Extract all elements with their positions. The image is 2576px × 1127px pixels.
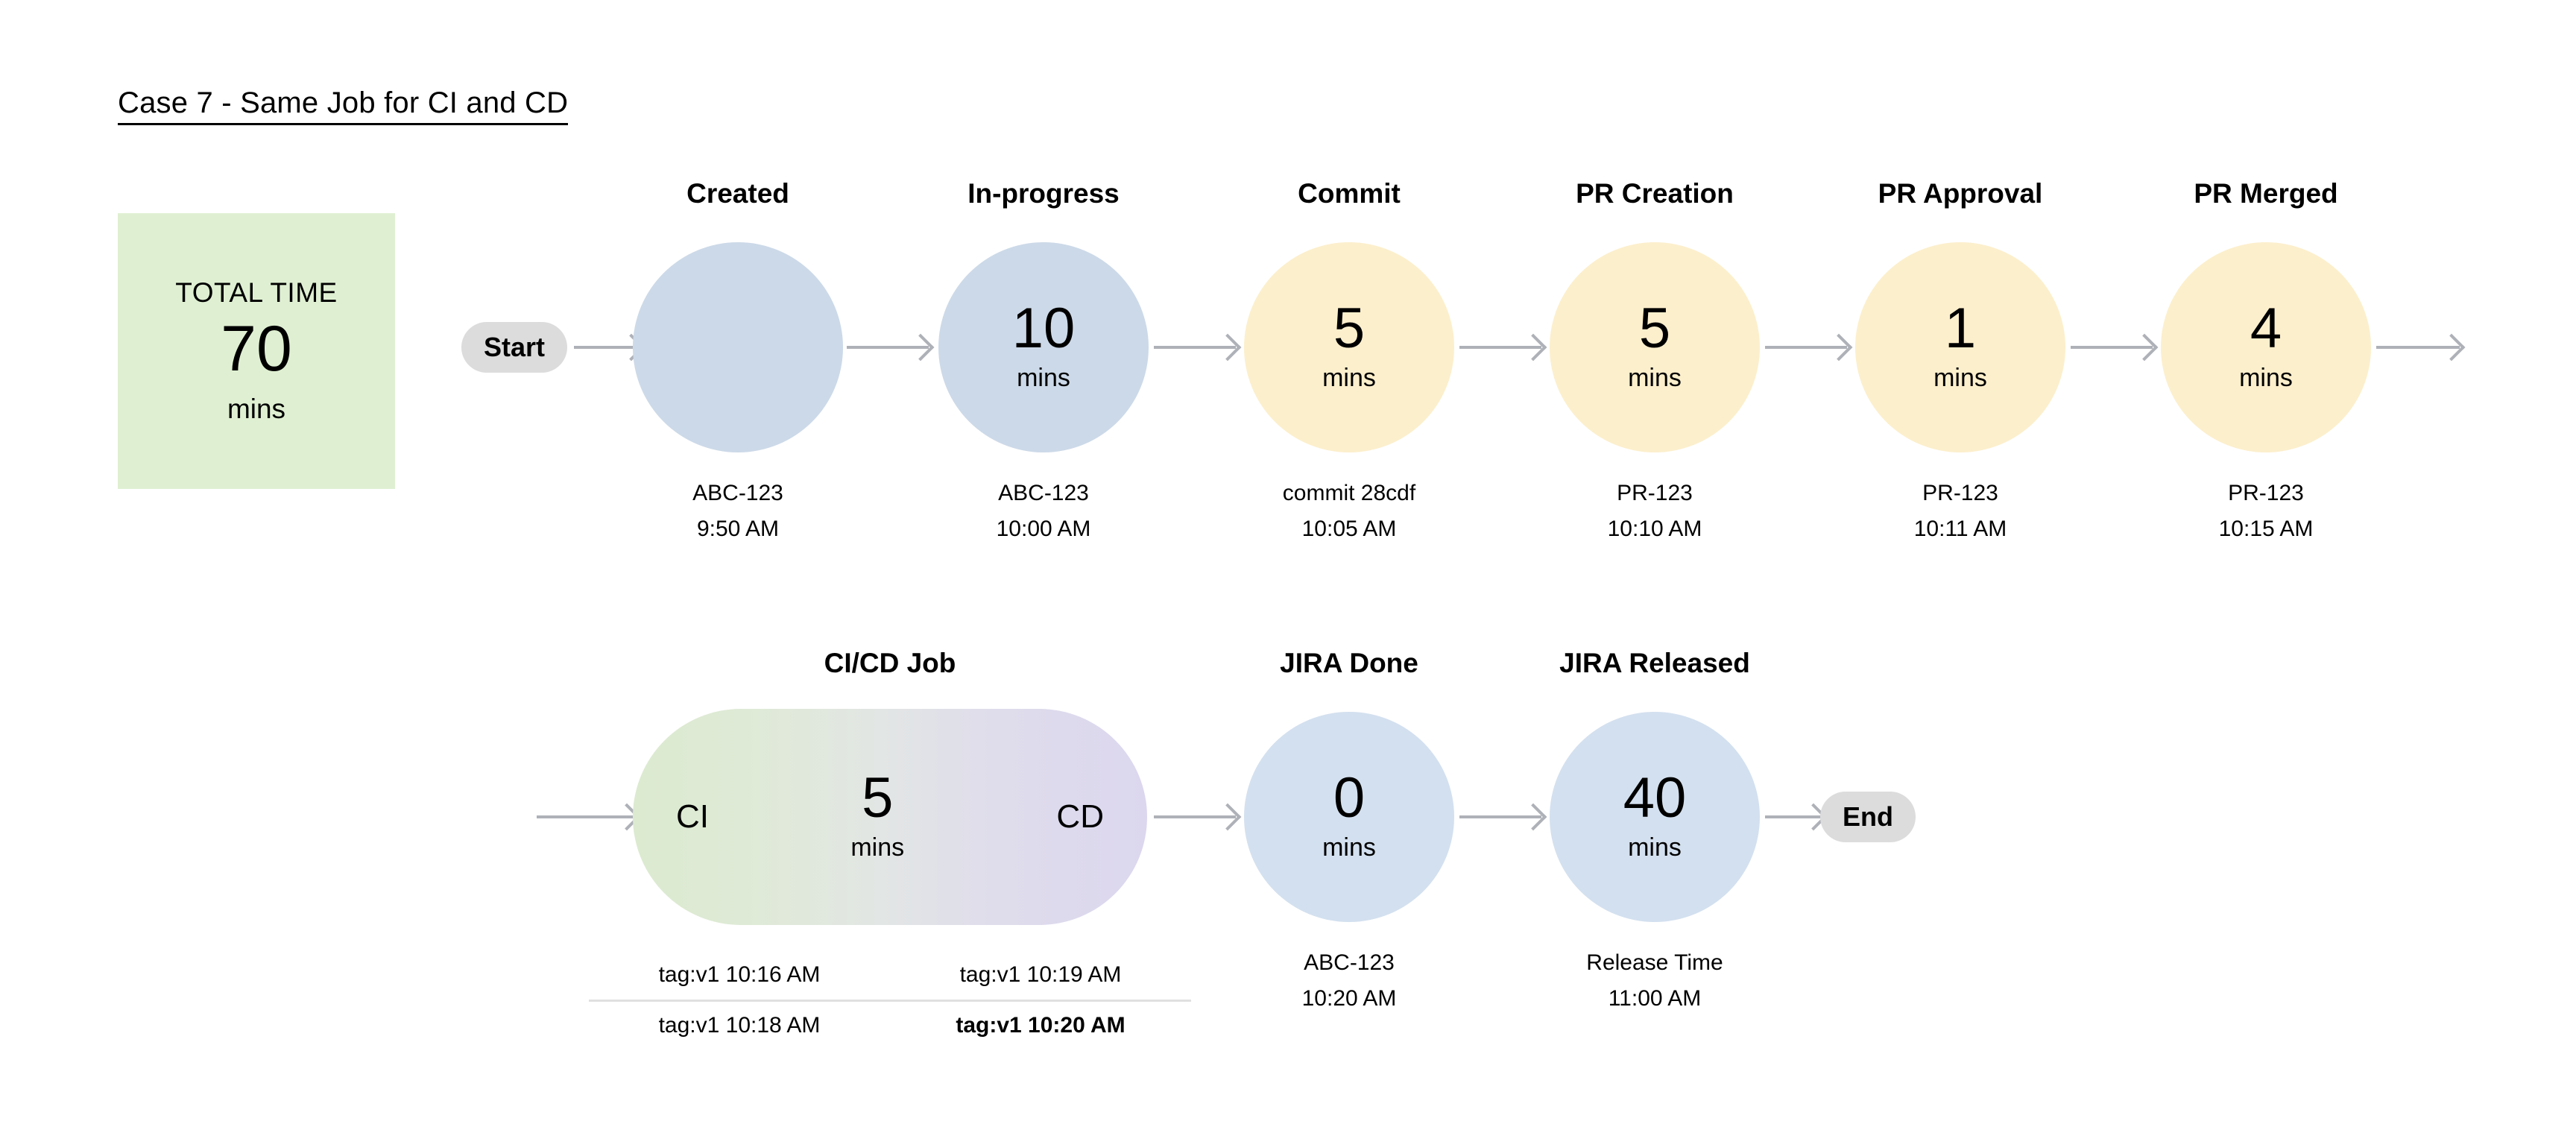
stage-title-pr-creation: PR Creation (1576, 178, 1734, 209)
stage-meta-in-progress-time: 10:00 AM (997, 511, 1091, 547)
stage-meta-in-progress-ref: ABC-123 (997, 476, 1091, 511)
arrow-row1-wrap-out (2376, 346, 2460, 349)
node-jira-released[interactable]: 40 mins (1550, 712, 1760, 922)
arrow-row2-wrap-in (537, 815, 635, 818)
total-time-card: TOTAL TIME 70 mins (118, 213, 395, 489)
stage-title-pr-approval: PR Approval (1878, 178, 2043, 209)
node-commit-value: 5 (1333, 302, 1365, 356)
total-time-label: TOTAL TIME (175, 277, 337, 309)
stage-title-in-progress: In-progress (967, 178, 1120, 209)
stage-meta-jira-done: ABC-123 10:20 AM (1302, 945, 1397, 1017)
stage-meta-created: ABC-123 9:50 AM (692, 476, 783, 547)
arrow-pr-approval-to-pr-merged (2071, 346, 2153, 349)
stage-meta-jira-done-ref: ABC-123 (1302, 945, 1397, 981)
stage-title-commit: Commit (1298, 178, 1401, 209)
stage-meta-in-progress: ABC-123 10:00 AM (997, 476, 1091, 547)
stage-meta-pr-merged-time: 10:15 AM (2219, 511, 2314, 547)
node-commit-unit: mins (1322, 364, 1376, 393)
stage-meta-pr-creation-ref: PR-123 (1608, 476, 1702, 511)
node-jira-done-unit: mins (1322, 833, 1376, 862)
stage-meta-pr-approval: PR-123 10:11 AM (1914, 476, 2007, 547)
cicd-tag-row-top: tag:v1 10:16 AM tag:v1 10:19 AM (589, 951, 1191, 1000)
stage-meta-commit-ref: commit 28cdf (1283, 476, 1415, 511)
node-in-progress[interactable]: 10 mins (938, 242, 1149, 452)
cicd-tag-ci-start: tag:v1 10:16 AM (589, 951, 890, 1000)
node-pr-creation-value: 5 (1639, 302, 1670, 356)
node-pr-merged-value: 4 (2250, 302, 2282, 356)
page-title: Case 7 - Same Job for CI and CD (118, 86, 568, 125)
arrow-cicd-job-to-jira-done (1154, 815, 1236, 818)
stage-title-pr-merged: PR Merged (2194, 178, 2337, 209)
node-commit[interactable]: 5 mins (1244, 242, 1454, 452)
cicd-job-ci-label: CI (676, 798, 709, 836)
stage-title-cicd-job: CI/CD Job (824, 648, 956, 679)
cicd-tag-ci-end: tag:v1 10:18 AM (589, 1002, 890, 1050)
node-pr-creation[interactable]: 5 mins (1550, 242, 1760, 452)
node-pr-creation-unit: mins (1628, 364, 1682, 393)
cicd-job-duration: 5 mins (850, 771, 904, 862)
stage-meta-jira-released-ref: Release Time (1586, 945, 1723, 981)
arrow-commit-to-pr-creation (1459, 346, 1541, 349)
node-jira-released-value: 40 (1623, 771, 1687, 825)
node-cicd-job[interactable]: CI 5 mins CD (633, 709, 1147, 925)
arrow-in-progress-to-commit (1154, 346, 1236, 349)
node-pr-approval[interactable]: 1 mins (1855, 242, 2065, 452)
node-jira-done-value: 0 (1333, 771, 1365, 825)
stage-meta-created-ref: ABC-123 (692, 476, 783, 511)
node-jira-done[interactable]: 0 mins (1244, 712, 1454, 922)
stage-title-created: Created (686, 178, 789, 209)
end-badge[interactable]: End (1820, 792, 1916, 842)
stage-meta-created-time: 9:50 AM (692, 511, 783, 547)
cicd-job-cd-label: CD (1056, 798, 1104, 836)
arrow-created-to-in-progress (847, 346, 929, 349)
node-in-progress-value: 10 (1012, 302, 1076, 356)
node-pr-approval-unit: mins (1933, 364, 1987, 393)
node-pr-merged[interactable]: 4 mins (2161, 242, 2371, 452)
stage-meta-pr-approval-time: 10:11 AM (1914, 511, 2007, 547)
stage-title-jira-done: JIRA Done (1280, 648, 1418, 679)
arrow-start-to-created (574, 346, 640, 349)
stage-meta-commit-time: 10:05 AM (1283, 511, 1415, 547)
stage-meta-jira-released-time: 11:00 AM (1586, 981, 1723, 1017)
stage-meta-pr-merged: PR-123 10:15 AM (2219, 476, 2314, 547)
stage-meta-pr-creation: PR-123 10:10 AM (1608, 476, 1702, 547)
stage-meta-pr-merged-ref: PR-123 (2219, 476, 2314, 511)
cicd-job-unit: mins (850, 833, 904, 862)
stage-meta-pr-creation-time: 10:10 AM (1608, 511, 1702, 547)
node-created[interactable] (633, 242, 843, 452)
node-in-progress-unit: mins (1017, 364, 1070, 393)
node-jira-released-unit: mins (1628, 833, 1682, 862)
cicd-tag-cd-start: tag:v1 10:19 AM (890, 951, 1191, 1000)
cicd-tag-row-bottom: tag:v1 10:18 AM tag:v1 10:20 AM (589, 1002, 1191, 1050)
cicd-job-value: 5 (862, 771, 893, 825)
stage-meta-jira-released: Release Time 11:00 AM (1586, 945, 1723, 1017)
stage-meta-jira-done-time: 10:20 AM (1302, 981, 1397, 1017)
total-time-value: 70 (221, 319, 292, 380)
cicd-job-tag-table: tag:v1 10:16 AM tag:v1 10:19 AM tag:v1 1… (589, 951, 1191, 1049)
total-time-unit: mins (227, 394, 285, 425)
arrow-pr-creation-to-pr-approval (1765, 346, 1847, 349)
arrow-jira-released-to-end (1765, 815, 1822, 818)
node-pr-merged-unit: mins (2239, 364, 2293, 393)
stage-title-jira-released: JIRA Released (1559, 648, 1750, 679)
cicd-tag-cd-end: tag:v1 10:20 AM (890, 1002, 1191, 1050)
stage-meta-pr-approval-ref: PR-123 (1914, 476, 2007, 511)
stage-meta-commit: commit 28cdf 10:05 AM (1283, 476, 1415, 547)
arrow-jira-done-to-jira-released (1459, 815, 1541, 818)
node-pr-approval-value: 1 (1945, 302, 1976, 356)
start-badge[interactable]: Start (461, 322, 567, 373)
